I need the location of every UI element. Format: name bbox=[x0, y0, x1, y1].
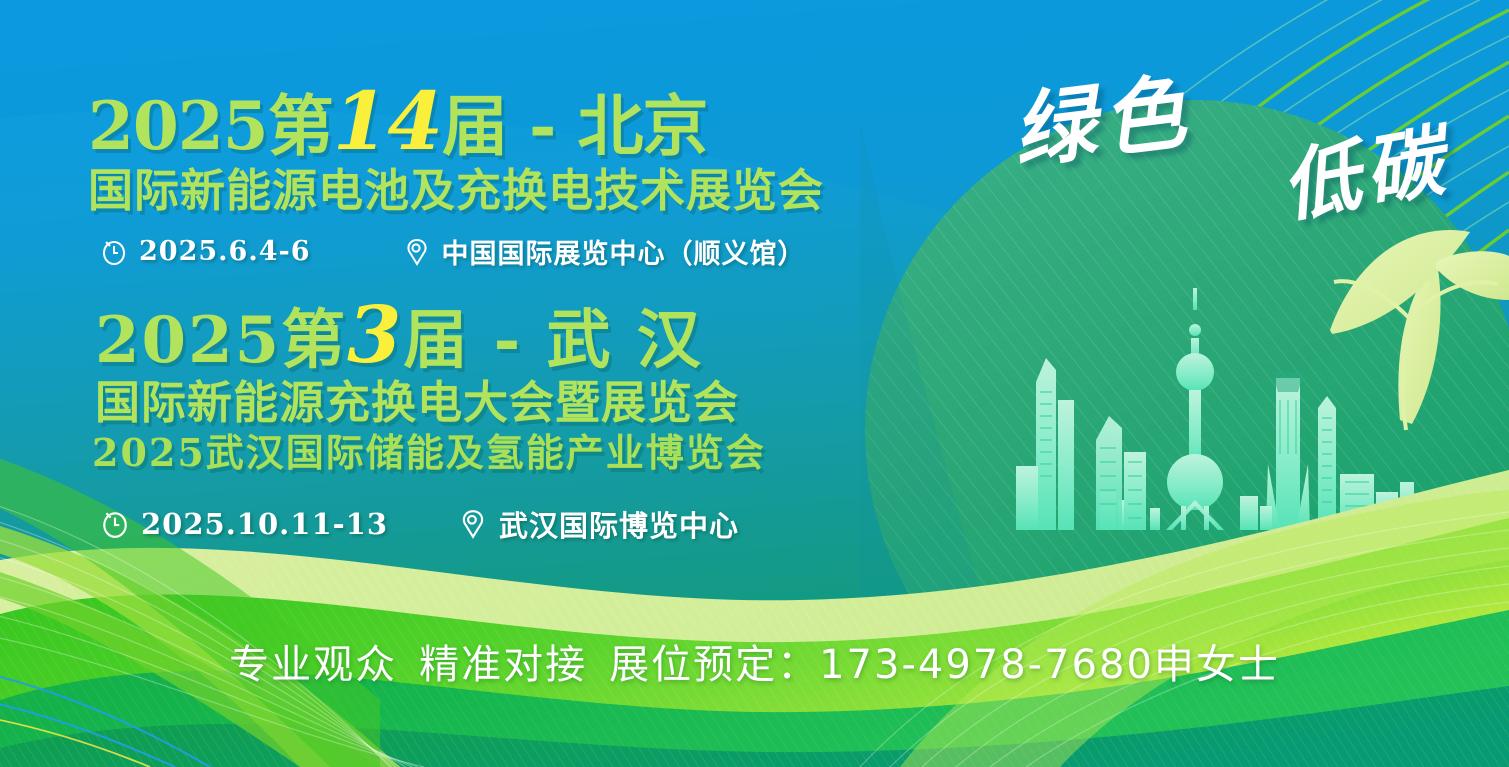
contact-name: 申女士 bbox=[1154, 642, 1280, 688]
beijing-event-meta: 2025.6.4-6 中国国际展览中心（顺义馆） bbox=[100, 232, 806, 271]
wuhan-venue: 武汉国际博览中心 bbox=[499, 503, 739, 545]
exhibition-banner: 绿色 低碳 2025第14届 - 北京 国际新能源电池及充换电技术展览会 202… bbox=[0, 0, 1509, 767]
beijing-event-subtitle: 国际新能源电池及充换电技术展览会 bbox=[88, 168, 824, 213]
clock-icon bbox=[100, 509, 130, 539]
contact-phone[interactable]: 173-4978-7680 bbox=[819, 642, 1154, 688]
beijing-edition-number: 14 bbox=[333, 74, 442, 168]
slogan-part-3: 展位预定： bbox=[609, 642, 819, 688]
wuhan-date: 2025.10.11-13 bbox=[141, 507, 388, 541]
calligraphy-green: 绿色 bbox=[1005, 44, 1198, 184]
location-pin-icon bbox=[458, 508, 488, 540]
beijing-venue: 中国国际展览中心（顺义馆） bbox=[442, 232, 806, 271]
slogan-part-1: 专业观众 bbox=[229, 642, 397, 688]
wuhan-event-title: 2025第3届 - 武 汉 bbox=[95, 304, 703, 373]
location-pin-icon bbox=[403, 237, 431, 267]
wuhan-title-suffix: 届 - 武 汉 bbox=[403, 303, 702, 378]
wuhan-event-subtitle-secondary: 2025武汉国际储能及氢能产业博览会 bbox=[92, 434, 766, 472]
bottom-slogan: 专业观众精准对接展位预定：173-4978-7680申女士 bbox=[0, 632, 1509, 690]
wuhan-edition-number: 3 bbox=[347, 290, 403, 381]
beijing-title-suffix: 届 - 北京 bbox=[442, 87, 707, 165]
beijing-event-title: 2025第14届 - 北京 bbox=[88, 88, 707, 159]
clock-icon bbox=[100, 238, 128, 266]
wuhan-title-prefix: 2025第 bbox=[95, 303, 347, 378]
slogan-part-2: 精准对接 bbox=[419, 642, 587, 688]
wuhan-event-meta: 2025.10.11-13 武汉国际博览中心 bbox=[100, 503, 739, 545]
beijing-date: 2025.6.4-6 bbox=[139, 236, 311, 267]
wuhan-event-subtitle: 国际新能源充换电大会暨展览会 bbox=[95, 380, 739, 425]
beijing-title-prefix: 2025第 bbox=[88, 87, 333, 165]
